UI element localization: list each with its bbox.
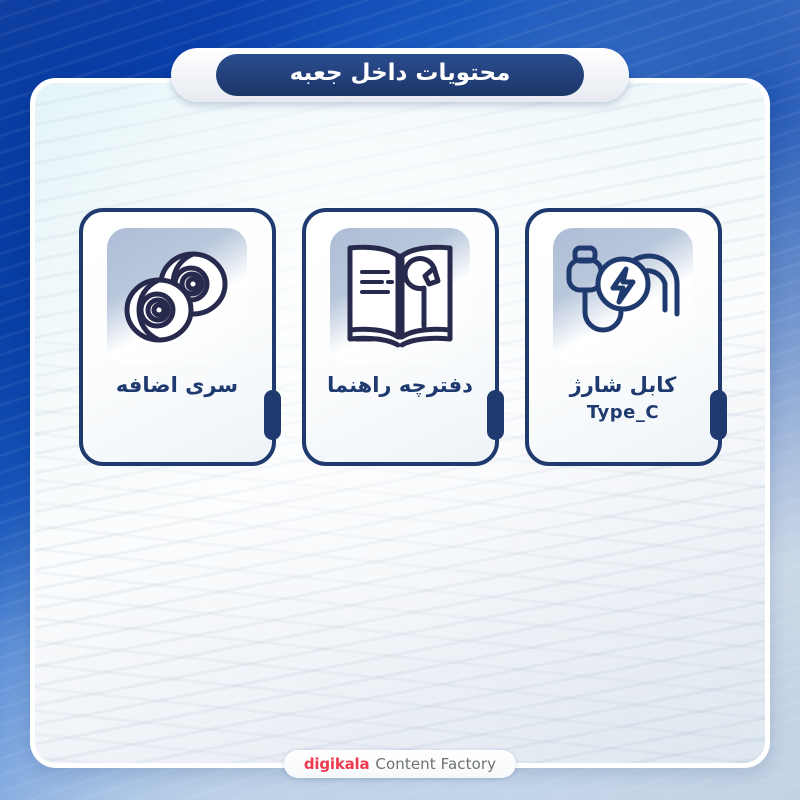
title-text: محتویات داخل جعبه (290, 62, 511, 88)
charging-cable-icon (547, 226, 699, 366)
items-row: کابل شارژ Type_C (0, 208, 800, 466)
footer-badge: digikala Content Factory (284, 750, 516, 778)
extra-eartips-icon (101, 226, 253, 366)
item-card-charging-cable[interactable]: کابل شارژ Type_C (525, 208, 722, 466)
poster-canvas: محتویات داخل جعبه (0, 0, 800, 800)
title-inner-pill: محتویات داخل جعبه (216, 54, 584, 96)
item-card-manual[interactable]: دفترچه راهنما (302, 208, 499, 466)
card-labels: دفترچه راهنما (306, 372, 495, 402)
card-label-fa: دفترچه راهنما (316, 372, 485, 398)
digikala-logo-text: digikala (304, 755, 370, 773)
card-labels: سری اضافه (83, 372, 272, 402)
footer-subtitle: Content Factory (375, 755, 496, 773)
page-title: محتویات داخل جعبه (171, 48, 629, 102)
card-label-fa: کابل شارژ (539, 372, 708, 398)
item-card-extra-tips[interactable]: سری اضافه (79, 208, 276, 466)
card-label-en: Type_C (539, 402, 708, 423)
card-label-fa: سری اضافه (93, 372, 262, 398)
card-labels: کابل شارژ Type_C (529, 372, 718, 423)
manual-book-wrench-icon (324, 226, 476, 366)
